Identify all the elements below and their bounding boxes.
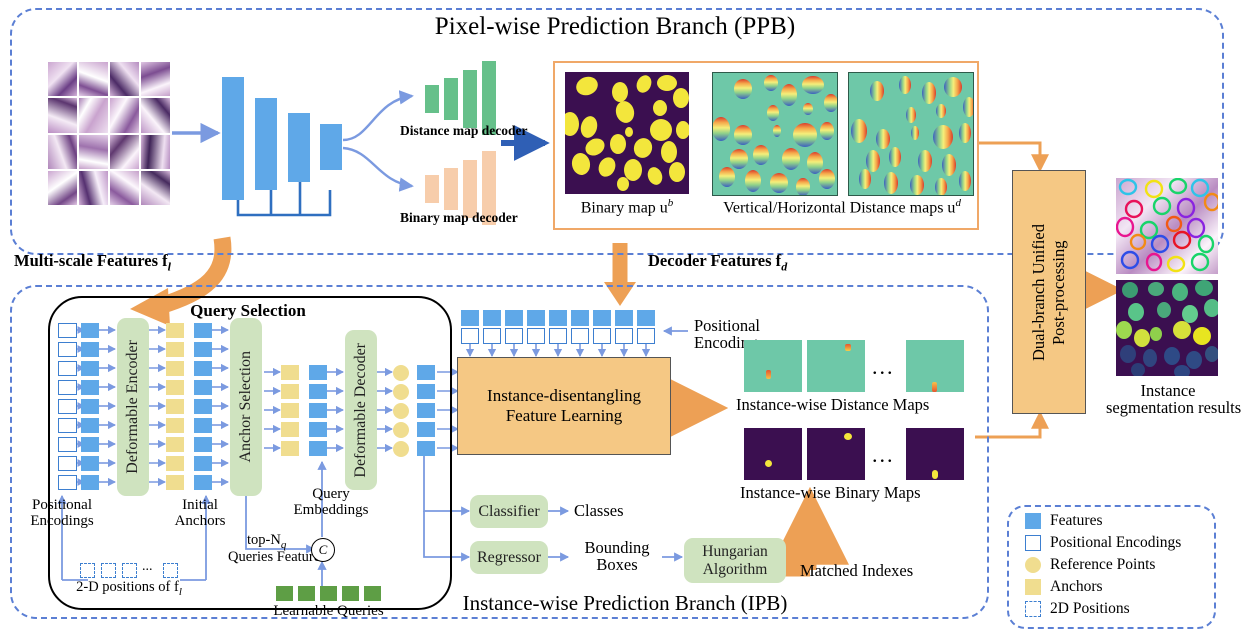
binary-decoder-bar-2 (444, 168, 458, 210)
anchor-selection-label: Anchor Selection (237, 351, 255, 463)
instance-disentangling-feature-learning-module[interactable]: Instance-disentangling Feature Learning (457, 357, 671, 455)
post-processing-module[interactable]: Dual-branch Unified Post-processing (1012, 170, 1086, 414)
selected-anchor-cell (281, 384, 299, 399)
legend-label: 2D Positions (1050, 600, 1130, 618)
positional-encodings-swatch-icon (1025, 535, 1041, 551)
feature-cell (194, 418, 212, 433)
feature-cell (194, 456, 212, 471)
anchor-cell (166, 361, 184, 376)
decoder-output-feature (417, 441, 435, 456)
results-caption: Instance segmentation results (1106, 382, 1230, 417)
input-patch-grid (48, 62, 170, 205)
anchor-selection-module[interactable]: Anchor Selection (230, 318, 262, 496)
feature-cell (194, 399, 212, 414)
idfl-feature-token (527, 310, 545, 326)
decoder-output-feature (417, 384, 435, 399)
query-embedding-cell (309, 384, 327, 399)
encoder-bar-1 (222, 77, 244, 200)
idfl-feature-token (549, 310, 567, 326)
idfl-positional-token (615, 328, 633, 344)
legend-item-2d-positions: 2D Positions (1025, 600, 1130, 618)
anchor-cell (166, 399, 184, 414)
distance-maps-sup: d (955, 197, 961, 209)
classes-label: Classes (574, 502, 624, 519)
ipb-title: Instance-wise Prediction Branch (IPB) (400, 592, 850, 614)
positional-encoding-cell (58, 361, 77, 376)
matched-indexes-label: Matched Indexes (800, 562, 913, 579)
feature-cell (81, 323, 99, 338)
binary-map-caption-text: Binary map u (581, 199, 668, 216)
deformable-decoder-label: Deformable Decoder (352, 343, 370, 478)
idfl-title-line1: Instance-disentangling (487, 386, 641, 406)
instance-binary-ellipsis: ... (872, 443, 895, 466)
instance-label-result-image (1116, 280, 1218, 376)
legend-label: Positional Encodings (1050, 534, 1181, 552)
position-ellipsis: ... (142, 560, 153, 575)
positional-encoding-cell (58, 475, 77, 490)
multi-scale-features-label: Multi-scale Features fl (14, 252, 171, 273)
legend-label: Reference Points (1050, 556, 1155, 574)
results-caption-line1: Instance (1106, 382, 1230, 399)
binary-decoder-bar-1 (425, 175, 439, 203)
positional-encoding-cell (58, 418, 77, 433)
instance-distance-map-tile (807, 340, 865, 392)
decoder-output-feature (417, 403, 435, 418)
idfl-pe-line1: Positional (694, 317, 764, 334)
decoder-output-feature (417, 422, 435, 437)
selected-anchor-cell (281, 365, 299, 380)
feature-cell (194, 342, 212, 357)
instance-binary-map-tile (906, 428, 964, 480)
positional-encoding-cell (58, 323, 77, 338)
feature-cell (81, 456, 99, 471)
positional-encodings-line2: Encodings (14, 514, 110, 530)
feature-cell (194, 323, 212, 338)
decoder-features-text: Decoder Features f (648, 251, 781, 270)
instance-binary-map-tile (744, 428, 802, 480)
feature-cell (194, 475, 212, 490)
idfl-positional-token (571, 328, 589, 344)
hungarian-line2: Algorithm (703, 561, 768, 579)
bounding-boxes-line2: Boxes (572, 556, 662, 573)
feature-cell (81, 399, 99, 414)
hungarian-line1: Hungarian (702, 543, 767, 561)
topk-label-text: top-N (247, 532, 281, 548)
learnable-query-cell (276, 586, 293, 601)
positional-encoding-cell (58, 437, 77, 452)
feature-cell (81, 437, 99, 452)
learnable-query-cell (364, 586, 381, 601)
deformable-encoder-label: Deformable Encoder (124, 340, 142, 474)
idfl-feature-token (505, 310, 523, 326)
positions-swatch-icon (1025, 601, 1041, 617)
position-cell (101, 563, 116, 578)
binary-map-decoder-label: Binary map decoder (400, 211, 518, 225)
selected-anchor-cell (281, 422, 299, 437)
query-embedding-cell (309, 441, 327, 456)
postproc-line1: Dual-branch Unified (1029, 224, 1049, 361)
idfl-positional-token (593, 328, 611, 344)
multi-scale-features-sub: l (168, 259, 171, 273)
encoder-bar-3 (288, 113, 310, 182)
query-embeddings-label: Query Embeddings (286, 487, 376, 519)
classifier-label: Classifier (478, 503, 539, 521)
idfl-positional-token (483, 328, 501, 344)
instance-distance-map-tile (906, 340, 964, 392)
binary-map-image (565, 72, 689, 194)
hungarian-algorithm-module[interactable]: Hungarian Algorithm (684, 538, 786, 583)
idfl-feature-token (637, 310, 655, 326)
idfl-feature-token (593, 310, 611, 326)
vertical-distance-map-image (712, 72, 838, 196)
reference-point (393, 441, 409, 457)
legend-item-reference-points: Reference Points (1025, 556, 1155, 574)
selected-anchor-cell (281, 403, 299, 418)
bounding-boxes-line1: Bounding (572, 539, 662, 556)
learnable-query-cell (298, 586, 315, 601)
distance-decoder-bar-1 (425, 85, 439, 113)
postproc-line2: Post-processing (1049, 224, 1069, 361)
query-embeddings-line2: Embeddings (286, 503, 376, 519)
deformable-encoder-module[interactable]: Deformable Encoder (117, 318, 149, 496)
feature-cell (81, 418, 99, 433)
query-embedding-cell (309, 422, 327, 437)
anchors-swatch-icon (1025, 579, 1041, 595)
position-cell (122, 563, 137, 578)
selected-anchor-cell (281, 441, 299, 456)
instance-distance-maps-caption: Instance-wise Distance Maps (736, 396, 929, 413)
distance-decoder-bar-3 (463, 70, 477, 128)
position-cell (163, 563, 178, 578)
query-embedding-cell (309, 403, 327, 418)
idfl-positional-token (505, 328, 523, 344)
legend-label: Anchors (1050, 578, 1103, 596)
bounding-boxes-label: Bounding Boxes (572, 539, 662, 574)
anchor-cell (166, 380, 184, 395)
distance-map-decoder-label: Distance map decoder (400, 124, 527, 138)
distance-maps-caption: Vertical/Horizontal Distance maps ud (700, 198, 984, 217)
decoder-features-sub: d (781, 259, 787, 273)
feature-cell (81, 361, 99, 376)
idfl-positional-token (549, 328, 567, 344)
ppb-title: Pixel-wise Prediction Branch (PPB) (0, 14, 1230, 40)
legend-label: Features (1050, 512, 1103, 530)
reference-points-swatch-icon (1025, 557, 1041, 573)
idfl-feature-token (483, 310, 501, 326)
distance-maps-caption-text: Vertical/Horizontal Distance maps u (723, 199, 955, 216)
legend-item-anchors: Anchors (1025, 578, 1103, 596)
regressor-label: Regressor (477, 549, 541, 567)
positional-encoding-cell (58, 456, 77, 471)
idfl-title-line2: Feature Learning (506, 406, 623, 426)
concat-operator: C (311, 538, 335, 562)
feature-cell (194, 380, 212, 395)
learnable-queries-label: Learnable Queries (256, 604, 401, 620)
idfl-feature-token (615, 310, 633, 326)
idfl-positional-token (461, 328, 479, 344)
decoder-output-feature (417, 365, 435, 380)
idfl-feature-token (461, 310, 479, 326)
learnable-query-cell (320, 586, 337, 601)
instance-distance-map-tile (744, 340, 802, 392)
deformable-decoder-module[interactable]: Deformable Decoder (345, 330, 377, 490)
anchor-cell (166, 437, 184, 452)
positions-label-text: 2-D positions of f (76, 579, 179, 595)
anchor-cell (166, 475, 184, 490)
anchor-cell (166, 342, 184, 357)
position-cell (80, 563, 95, 578)
anchor-cell (166, 418, 184, 433)
feature-cell (194, 437, 212, 452)
initial-anchors-line1: Initial (152, 498, 248, 514)
initial-anchors-label: Initial Anchors (152, 498, 248, 530)
instance-distance-ellipsis: ... (872, 355, 895, 378)
positions-label-sub: l (179, 586, 182, 598)
encoder-bar-4 (320, 124, 342, 170)
feature-cell (194, 361, 212, 376)
binary-map-caption: Binary map ub (565, 198, 689, 217)
feature-cell (81, 380, 99, 395)
instance-binary-maps-caption: Instance-wise Binary Maps (740, 484, 921, 501)
reference-point (393, 422, 409, 438)
positional-encoding-cell (58, 342, 77, 357)
legend-item-features: Features (1025, 512, 1103, 530)
reference-point (393, 365, 409, 381)
positional-encodings-label: Positional Encodings (14, 498, 110, 530)
initial-anchors-line2: Anchors (152, 514, 248, 530)
feature-cell (81, 475, 99, 490)
positional-encoding-cell (58, 380, 77, 395)
encoder-bar-2 (255, 98, 277, 190)
classifier-module[interactable]: Classifier (470, 495, 548, 528)
reference-point (393, 384, 409, 400)
positions-label: 2-D positions of fl (66, 580, 192, 598)
regressor-module[interactable]: Regressor (470, 541, 548, 574)
feature-cell (81, 342, 99, 357)
results-caption-line2: segmentation results (1106, 399, 1230, 416)
binary-map-sup: b (668, 197, 674, 209)
reference-point (393, 403, 409, 419)
distance-decoder-bar-2 (444, 78, 458, 120)
positional-encoding-cell (58, 399, 77, 414)
legend-item-positional-encodings: Positional Encodings (1025, 534, 1181, 552)
idfl-positional-token (527, 328, 545, 344)
horizontal-distance-map-image (848, 72, 974, 196)
instance-overlay-result-image (1116, 178, 1218, 274)
features-swatch-icon (1025, 513, 1041, 529)
anchor-cell (166, 323, 184, 338)
decoder-features-label: Decoder Features fd (648, 252, 787, 273)
instance-binary-map-tile (807, 428, 865, 480)
idfl-positional-token (637, 328, 655, 344)
query-embeddings-line1: Query (286, 487, 376, 503)
anchor-cell (166, 456, 184, 471)
positional-encodings-line1: Positional (14, 498, 110, 514)
learnable-query-cell (342, 586, 359, 601)
concat-symbol: C (319, 542, 328, 558)
multi-scale-features-text: Multi-scale Features f (14, 251, 168, 270)
query-embedding-cell (309, 365, 327, 380)
idfl-feature-token (571, 310, 589, 326)
